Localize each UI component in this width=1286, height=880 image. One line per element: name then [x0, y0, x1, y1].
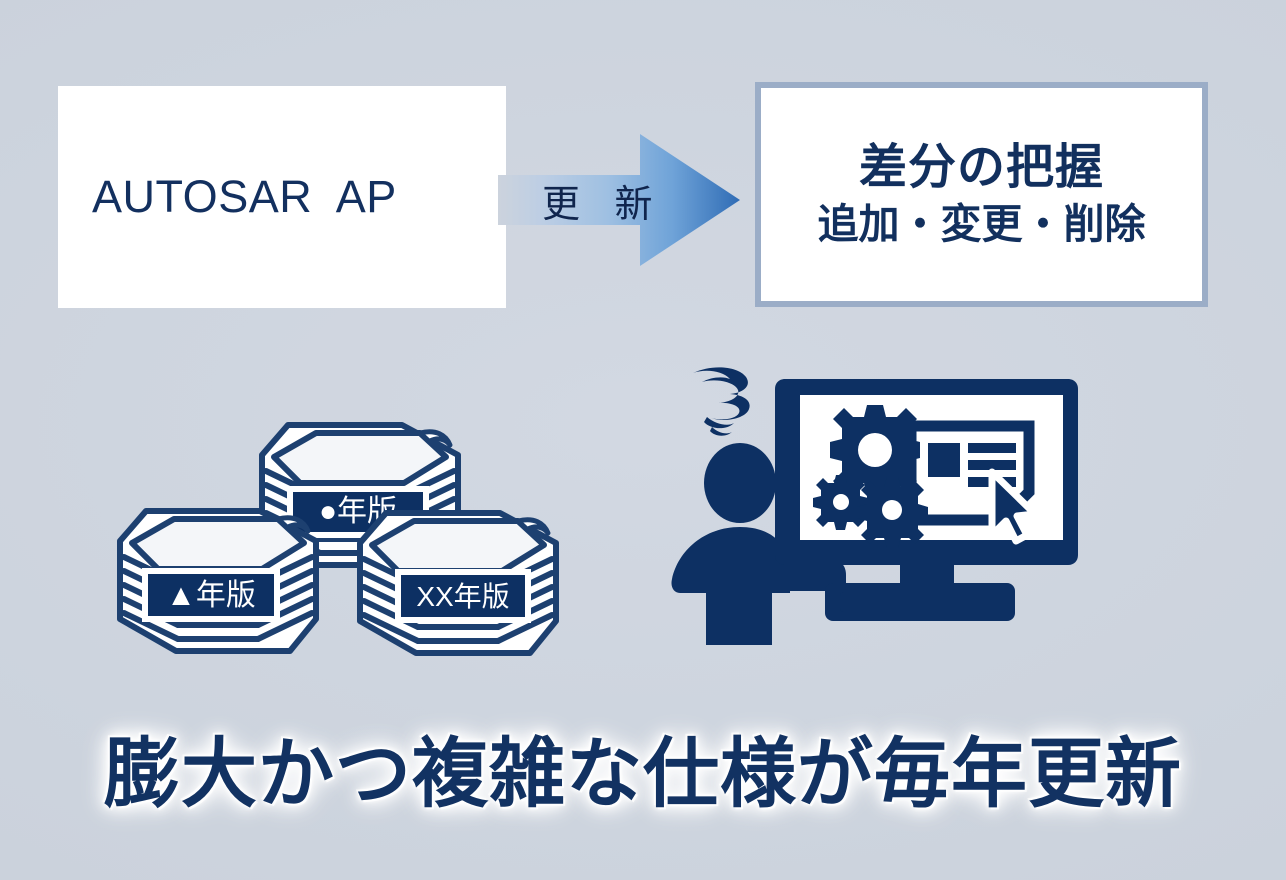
update-arrow	[498, 118, 746, 282]
caption-text: 膨大かつ複雑な仕様が毎年更新	[0, 712, 1286, 822]
right-arrow-icon	[498, 118, 746, 282]
source-box: AUTOSAR AP	[58, 86, 506, 308]
book-stacks-illustration: ●年版 ▲年版 XX年版	[100, 405, 600, 665]
book-stack-left: ▲年版	[120, 511, 316, 651]
swirl-confusion-icon	[693, 367, 750, 435]
result-box-title: 差分の把握	[859, 141, 1104, 195]
small-gear-icon	[813, 475, 868, 530]
source-box-label: AUTOSAR AP	[58, 171, 397, 223]
book-stacks-svg: ●年版 ▲年版 XX年版	[100, 405, 600, 665]
result-box-subtitle: 追加・変更・削除	[818, 201, 1146, 248]
result-box: 差分の把握 追加・変更・削除	[755, 82, 1208, 307]
slide-canvas: AUTOSAR AP 更 新 差分の把握 追加・変更・削除	[0, 0, 1286, 880]
book-stack-right-label: XX年版	[416, 581, 509, 612]
worker-svg	[660, 355, 1080, 655]
book-stack-left-label: ▲年版	[166, 579, 256, 612]
book-stack-right: XX年版	[360, 513, 556, 653]
worker-illustration	[660, 355, 1080, 655]
small-gear-icon-2	[857, 477, 928, 548]
